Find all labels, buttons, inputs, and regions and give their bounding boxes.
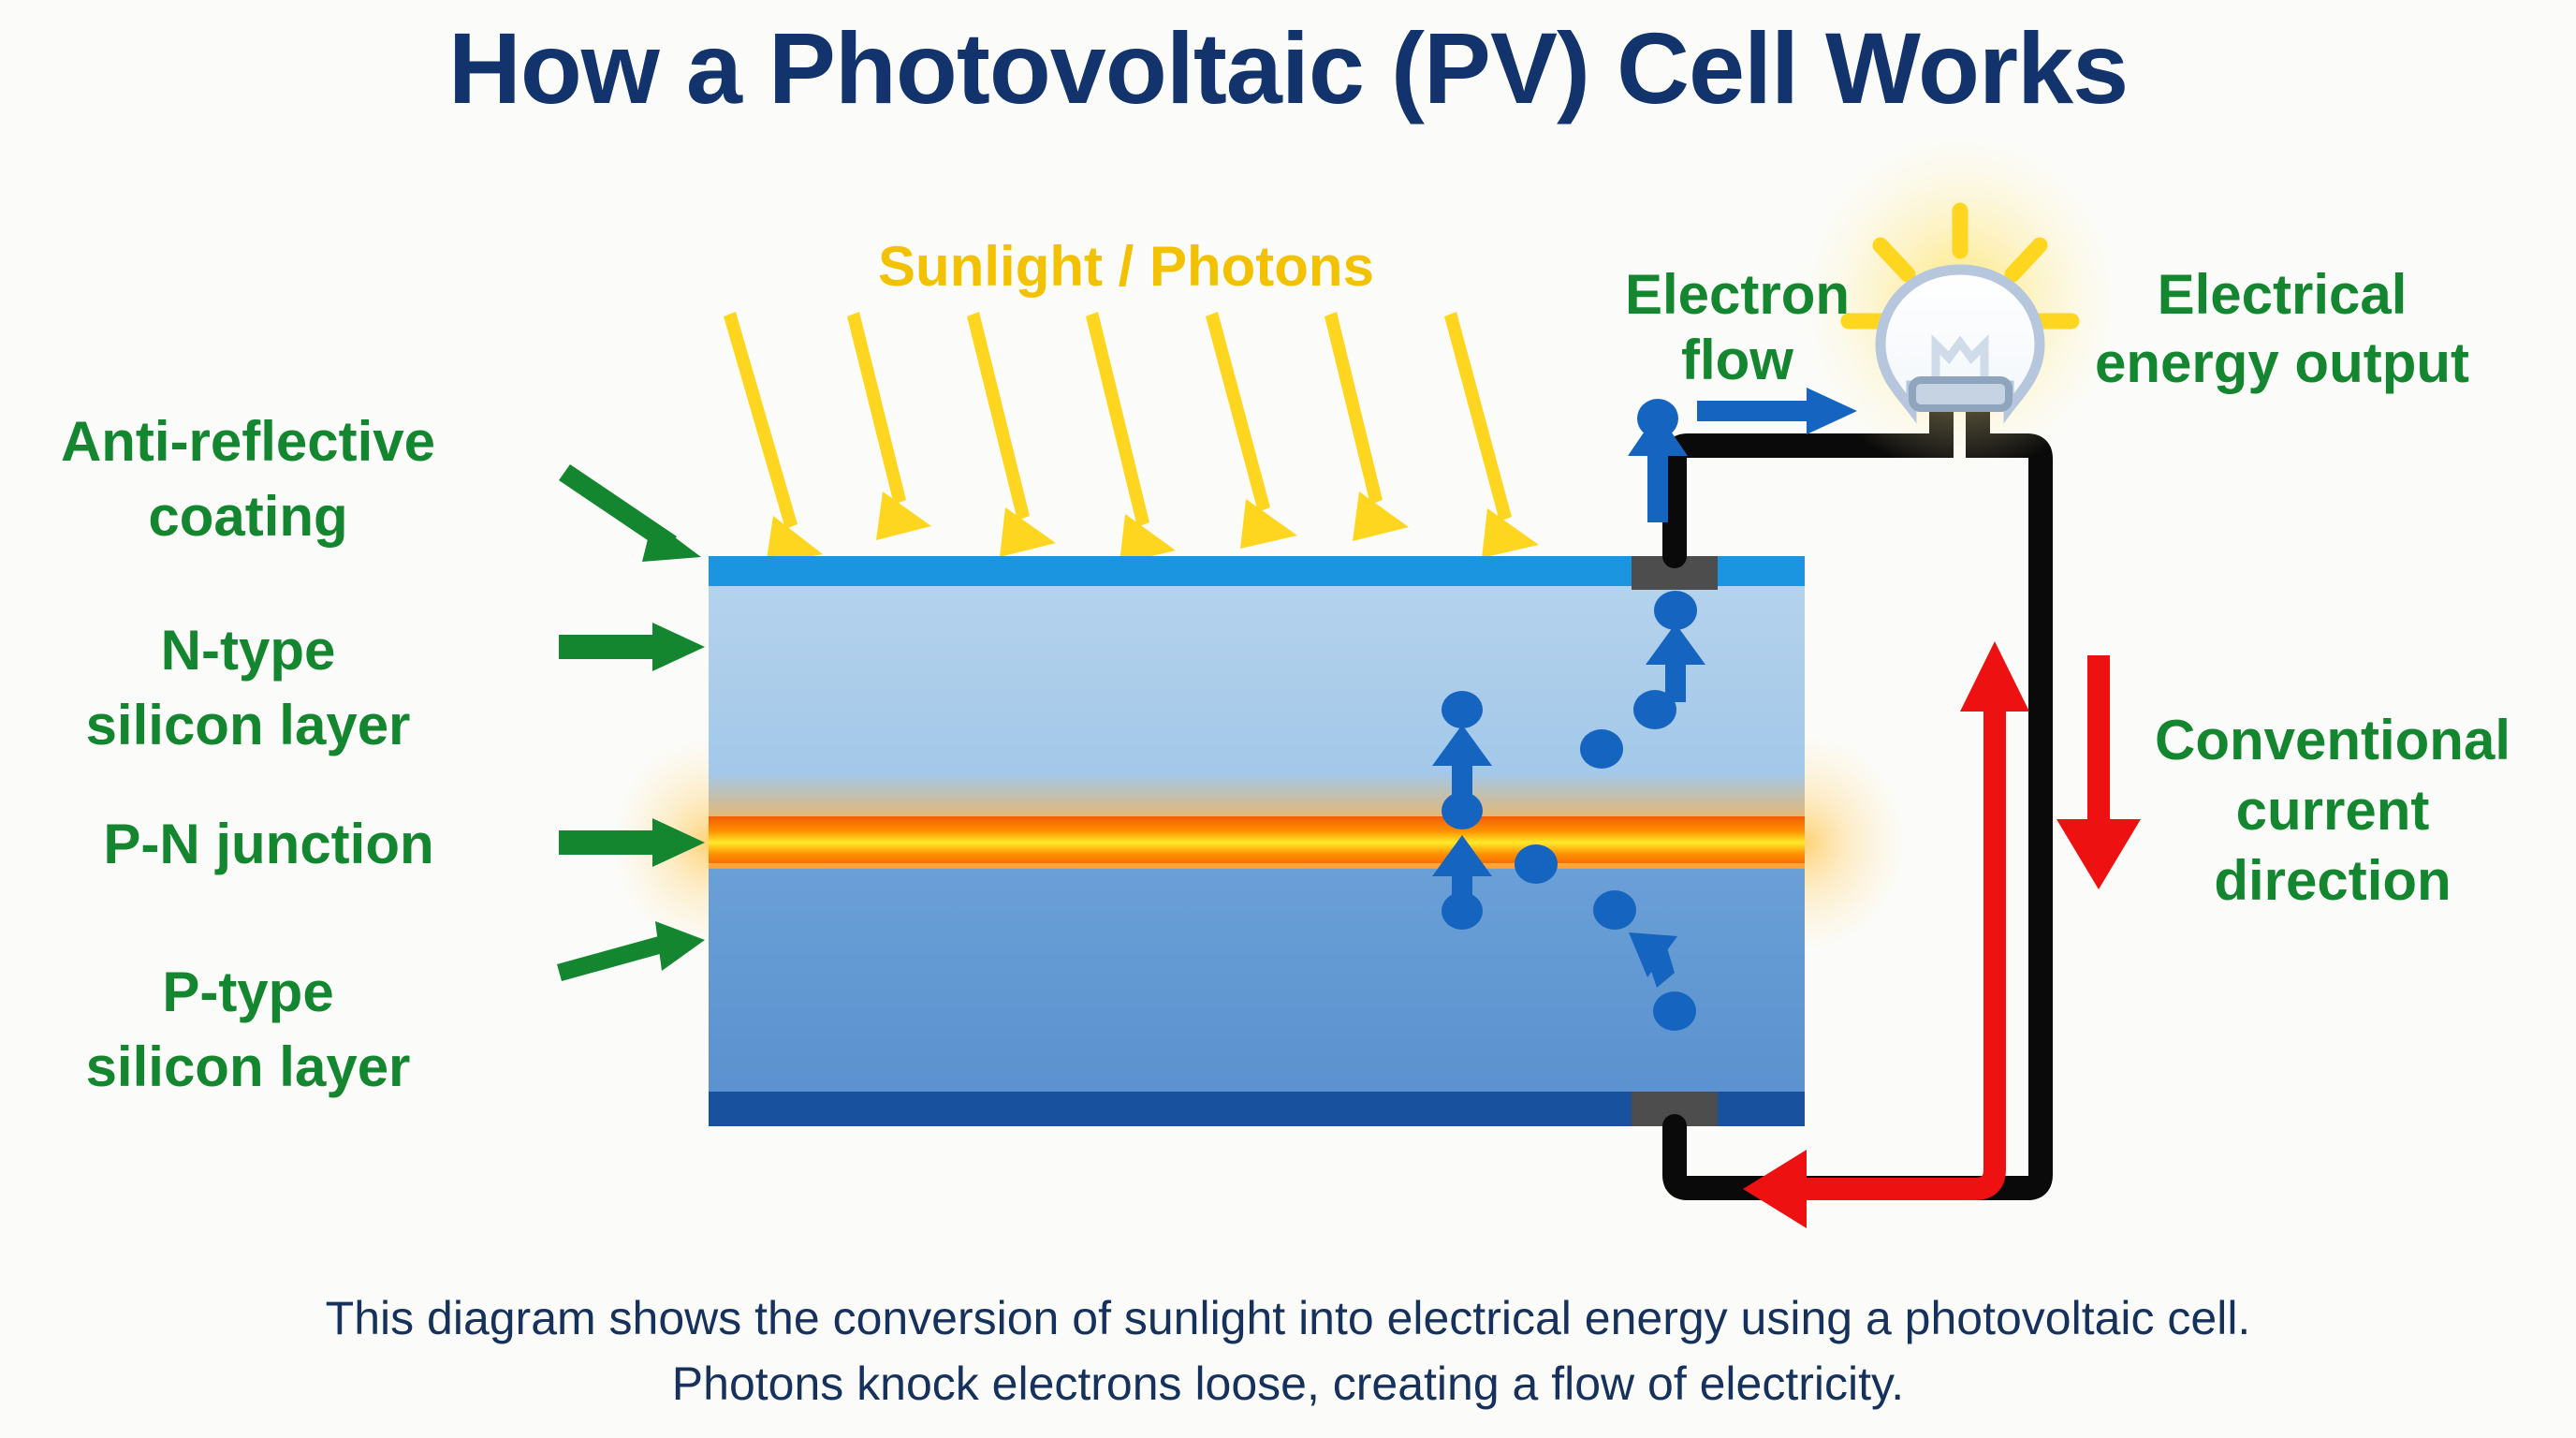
sunlight-arrow	[724, 312, 823, 565]
sunlight-label: Sunlight / Photons	[878, 235, 1374, 298]
electron-dot	[1653, 991, 1696, 1031]
label-n-type-line1: N-type	[161, 619, 336, 682]
electron-dot	[1580, 729, 1623, 769]
label-conventional-line2: current	[2236, 779, 2430, 842]
sunlight-arrow	[1325, 312, 1409, 541]
pv-cell	[709, 556, 1805, 1126]
electron-dot	[1593, 890, 1636, 930]
current-arrowhead-up	[1960, 641, 2029, 712]
label-pn-junction: P-N junction	[103, 813, 433, 875]
current-arrowhead-left	[1743, 1150, 1807, 1228]
label-electrical-output-line2: energy output	[2095, 331, 2469, 394]
label-electron-flow-line1: Electron	[1625, 263, 1850, 326]
electron-dot	[1515, 844, 1558, 884]
page-title: How a Photovoltaic (PV) Cell Works	[448, 11, 2128, 125]
caption-line-2: Photons knock electrons loose, creating …	[672, 1357, 1904, 1410]
label-conventional-line1: Conventional	[2155, 709, 2510, 771]
electron-dot	[1442, 892, 1483, 930]
label-anti-reflective-line1: Anti-reflective	[61, 410, 435, 473]
bulb-base	[1912, 380, 2009, 408]
electron-dot	[1633, 690, 1676, 729]
layer-p-type-silicon	[709, 869, 1805, 1092]
diagram-canvas: How a Photovoltaic (PV) Cell Works Sunli…	[0, 0, 2576, 1438]
electron-dot	[1442, 691, 1483, 728]
label-electrical-output-line1: Electrical	[2158, 263, 2408, 326]
sunlight-arrow	[1444, 312, 1539, 558]
current-arrowhead-down	[2056, 819, 2141, 889]
sunlight-arrow	[1206, 312, 1297, 549]
label-p-type-line1: P-type	[162, 961, 333, 1023]
label-conventional-line3: direction	[2214, 849, 2451, 912]
sunlight-arrow	[1086, 312, 1176, 564]
layer-pn-junction	[709, 816, 1805, 869]
caption-line-1: This diagram shows the conversion of sun…	[326, 1292, 2251, 1344]
current-path-down	[2087, 655, 2110, 829]
label-p-type-line2: silicon layer	[86, 1035, 411, 1098]
sunlight-arrow	[847, 312, 931, 540]
label-n-type-line2: silicon layer	[86, 694, 411, 756]
callout-arrow-n-type	[559, 623, 705, 671]
electron-dot	[1442, 792, 1483, 829]
sunlight-arrow	[967, 312, 1056, 557]
sunlight-arrows-group	[724, 312, 1539, 565]
label-electron-flow-line2: flow	[1681, 329, 1793, 391]
callout-arrow-anti-reflective	[559, 464, 701, 562]
label-anti-reflective-line2: coating	[148, 485, 347, 548]
